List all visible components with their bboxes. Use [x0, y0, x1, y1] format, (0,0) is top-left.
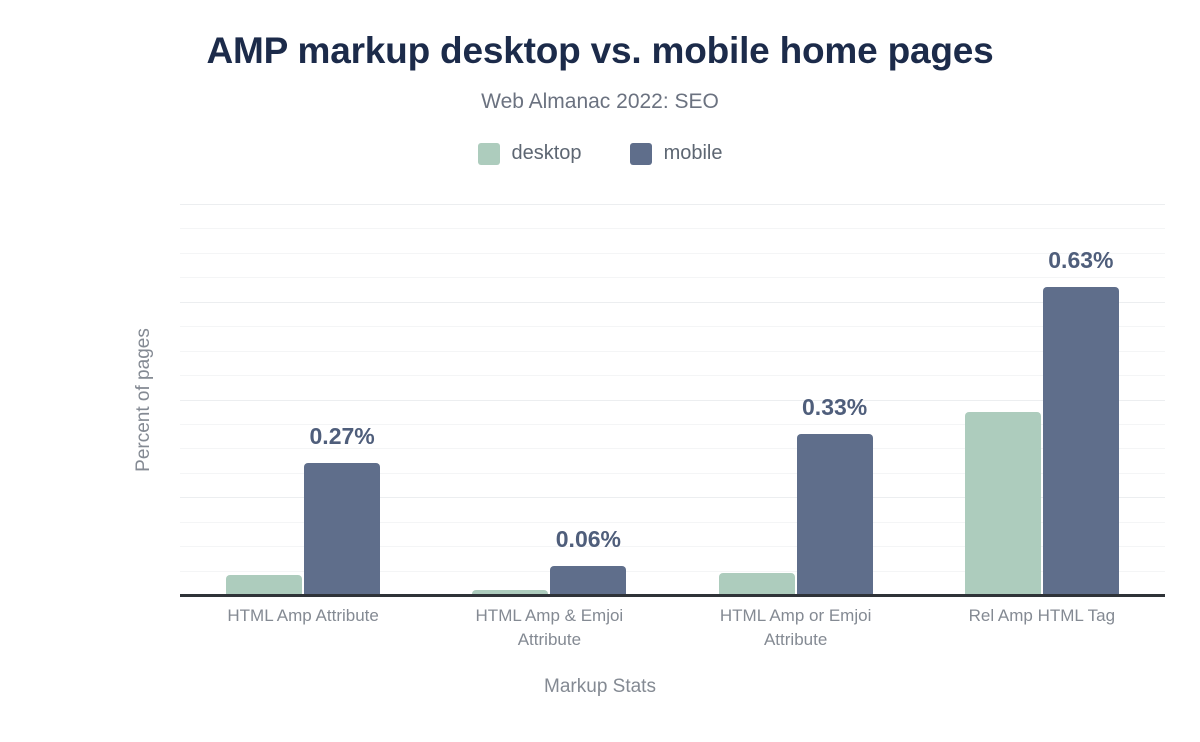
- legend-swatch-desktop: [478, 143, 500, 165]
- chart-container: AMP markup desktop vs. mobile home pages…: [0, 0, 1200, 742]
- gridline-minor: [180, 277, 1165, 278]
- bar-value-label-mobile-3: 0.63%: [1048, 247, 1113, 274]
- chart-legend: desktopmobile: [0, 142, 1200, 165]
- x-axis-tick-label: HTML Amp Attribute: [203, 604, 403, 628]
- x-axis-line: [180, 594, 1165, 597]
- legend-item-desktop[interactable]: desktop: [478, 142, 582, 165]
- bar-mobile-1[interactable]: [550, 566, 626, 595]
- bar-desktop-0[interactable]: [226, 575, 302, 595]
- legend-label-mobile: mobile: [664, 142, 723, 165]
- gridline-major: [180, 400, 1165, 401]
- bar-desktop-2[interactable]: [719, 573, 795, 595]
- bar-mobile-2[interactable]: [797, 434, 873, 595]
- plot-area: Percent of pages 0.00%0.20%0.40%0.60%0.8…: [180, 204, 1165, 595]
- legend-item-mobile[interactable]: mobile: [630, 142, 723, 165]
- y-axis-title: Percent of pages: [133, 328, 155, 472]
- legend-label-desktop: desktop: [512, 142, 582, 165]
- x-axis-tick-label: HTML Amp or Emjoi Attribute: [696, 604, 896, 652]
- gridline-minor: [180, 375, 1165, 376]
- x-axis-tick-label: Rel Amp HTML Tag: [942, 604, 1142, 628]
- chart-title: AMP markup desktop vs. mobile home pages: [0, 30, 1200, 72]
- gridline-major: [180, 302, 1165, 303]
- gridline-minor: [180, 326, 1165, 327]
- legend-swatch-mobile: [630, 143, 652, 165]
- gridline-minor: [180, 228, 1165, 229]
- bar-mobile-0[interactable]: [304, 463, 380, 595]
- x-axis-title: Markup Stats: [0, 676, 1200, 698]
- chart-subtitle: Web Almanac 2022: SEO: [0, 90, 1200, 114]
- gridline-minor: [180, 253, 1165, 254]
- bar-value-label-mobile-1: 0.06%: [556, 526, 621, 553]
- bar-mobile-3[interactable]: [1043, 287, 1119, 595]
- gridline-major: [180, 204, 1165, 205]
- bar-value-label-mobile-0: 0.27%: [310, 423, 375, 450]
- x-axis-tick-label: HTML Amp & Emjoi Attribute: [449, 604, 649, 652]
- bar-value-label-mobile-2: 0.33%: [802, 394, 867, 421]
- bar-desktop-3[interactable]: [965, 412, 1041, 595]
- gridline-minor: [180, 351, 1165, 352]
